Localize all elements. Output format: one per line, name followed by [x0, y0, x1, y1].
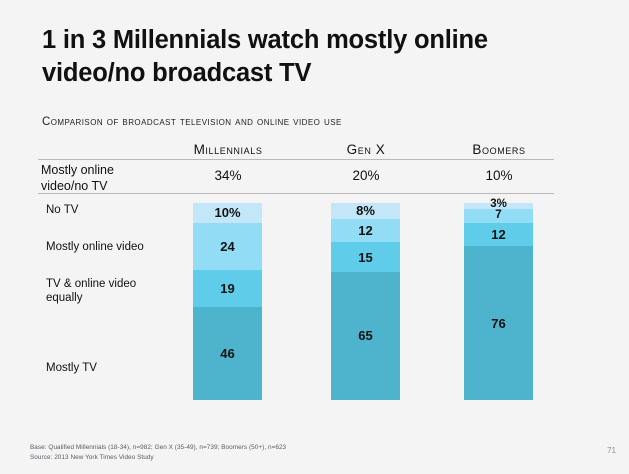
stack-label-mostly-online-video-line-1: Mostly online video — [46, 240, 196, 254]
stack-label-tv-and-online-equally-line-1: TV & online video — [46, 277, 196, 291]
stack-label-no-tv-line-1: No TV — [46, 203, 196, 217]
page-number: 71 — [607, 446, 616, 455]
page-title: 1 in 3 Millennials watch mostly online v… — [42, 24, 582, 90]
stacked-bar-millennials[interactable]: 10% 24 19 46 — [193, 203, 262, 400]
column-header-millennials: Millennials — [163, 142, 293, 157]
summary-value-gen-x: 20% — [301, 168, 431, 183]
stack-label-tv-and-online-equally-line-2: equally — [46, 291, 196, 305]
bar-segment-value: 7 — [495, 210, 501, 222]
footnote-base-line: Base: Qualified Millennials (18-34), n=9… — [30, 443, 286, 453]
bar-segment-value: 46 — [220, 347, 234, 360]
bar-segment-no-tv[interactable]: 10% — [193, 203, 262, 223]
bar-segment-value: 65 — [358, 329, 372, 342]
column-header-boomers: Boomers — [434, 142, 564, 157]
bar-segment-mostly-tv[interactable]: 46 — [193, 307, 262, 400]
bar-segment-mostly-tv[interactable]: 65 — [331, 272, 400, 400]
summary-value-boomers: 10% — [434, 168, 564, 183]
stack-label-mostly-tv: Mostly TV — [46, 361, 196, 375]
bar-segment-value: 8% — [356, 204, 375, 217]
bar-segment-value: 12 — [491, 228, 505, 241]
column-header-gen-x: Gen X — [301, 142, 431, 157]
footnote-source-line: Source: 2013 New York Times Video Study — [30, 453, 286, 463]
bar-segment-value: 10% — [214, 206, 240, 219]
table-rule-top — [38, 159, 554, 160]
stack-label-mostly-tv-line-1: Mostly TV — [46, 361, 196, 375]
bar-segment-value: 19 — [220, 282, 234, 295]
stacked-bar-boomers[interactable]: 3% 7 12 76 — [464, 203, 533, 400]
summary-value-millennials: 34% — [163, 168, 293, 183]
title-line-1: 1 in 3 Millennials watch mostly online — [42, 24, 582, 57]
bar-segment-tv-and-online-equally[interactable]: 15 — [331, 242, 400, 272]
bar-segment-value: 15 — [358, 251, 372, 264]
chart-subtitle: Comparison of broadcast television and o… — [42, 116, 342, 128]
stacked-bar-gen-x[interactable]: 8% 12 15 65 — [331, 203, 400, 400]
bar-segment-value: 76 — [491, 317, 505, 330]
stack-label-no-tv: No TV — [46, 203, 196, 217]
bar-segment-value: 12 — [358, 224, 372, 237]
stack-label-mostly-online-video: Mostly online video — [46, 240, 196, 254]
bar-segment-mostly-online-video[interactable]: 12 — [331, 219, 400, 243]
bar-segment-tv-and-online-equally[interactable]: 12 — [464, 223, 533, 247]
bar-segment-no-tv[interactable]: 8% — [331, 203, 400, 219]
bar-segment-mostly-tv[interactable]: 76 — [464, 246, 533, 400]
bar-segment-mostly-online-video[interactable]: 24 — [193, 223, 262, 270]
footnote: Base: Qualified Millennials (18-34), n=9… — [30, 443, 286, 462]
bar-segment-tv-and-online-equally[interactable]: 19 — [193, 270, 262, 307]
slide-canvas: 1 in 3 Millennials watch mostly online v… — [0, 0, 629, 474]
title-line-2: video/no broadcast TV — [42, 57, 582, 90]
bar-segment-value: 24 — [220, 240, 234, 253]
stack-label-tv-and-online-equally: TV & online video equally — [46, 277, 196, 306]
bar-segment-mostly-online-video[interactable]: 7 — [464, 209, 533, 223]
